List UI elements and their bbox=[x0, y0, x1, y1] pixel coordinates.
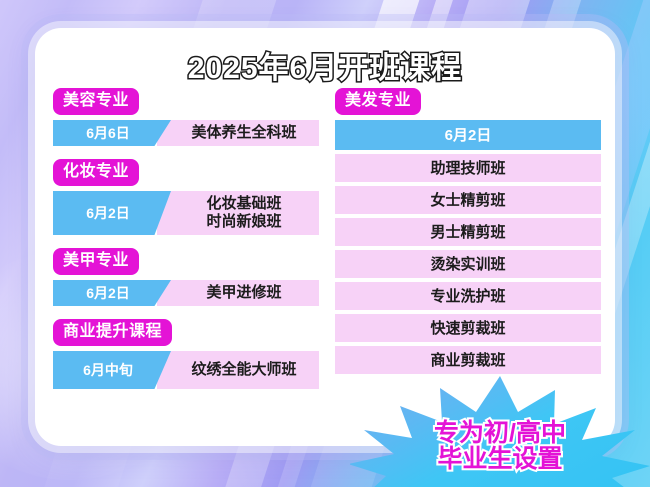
course-name: 美甲进修班 bbox=[206, 284, 281, 302]
course-block: 美容专业 6月6日 美体养生全科班 bbox=[53, 88, 319, 146]
course-name: 美体养生全科班 bbox=[191, 124, 296, 142]
list-item[interactable]: 助理技师班 bbox=[335, 154, 601, 182]
list-item[interactable]: 专业洗护班 bbox=[335, 282, 601, 310]
list-item[interactable]: 男士精剪班 bbox=[335, 218, 601, 246]
category-tag-hair[interactable]: 美发专业 bbox=[335, 88, 421, 115]
course-row[interactable]: 6月2日 化妆基础班 时尚新娘班 bbox=[53, 191, 319, 235]
course-name: 纹绣全能大师班 bbox=[191, 361, 296, 379]
category-tag-makeup[interactable]: 化妆专业 bbox=[53, 159, 139, 186]
right-column: 美发专业 6月2日 助理技师班 女士精剪班 男士精剪班 烫染实训班 专业洗护班 … bbox=[335, 88, 601, 374]
course-block: 商业提升课程 6月中旬 纹绣全能大师班 bbox=[53, 319, 319, 389]
category-tag-nail[interactable]: 美甲专业 bbox=[53, 248, 139, 275]
course-date: 6月中旬 bbox=[53, 351, 171, 389]
poster-canvas: 2025年6月开班课程 美容专业 6月6日 美体养生全科班 化妆专业 bbox=[0, 0, 650, 487]
burst-line-1: 专为初/高中 bbox=[350, 420, 650, 446]
course-names: 化妆基础班 时尚新娘班 bbox=[157, 191, 319, 235]
burst-line-2: 毕业生设置 bbox=[350, 446, 650, 472]
list-item[interactable]: 烫染实训班 bbox=[335, 250, 601, 278]
course-row[interactable]: 6月6日 美体养生全科班 bbox=[53, 120, 319, 146]
course-block: 化妆专业 6月2日 化妆基础班 时尚新娘班 bbox=[53, 159, 319, 235]
course-names: 美甲进修班 bbox=[157, 280, 319, 306]
course-row[interactable]: 6月中旬 纹绣全能大师班 bbox=[53, 351, 319, 389]
course-names: 美体养生全科班 bbox=[157, 120, 319, 146]
course-block: 美甲专业 6月2日 美甲进修班 bbox=[53, 248, 319, 306]
course-date: 6月6日 bbox=[53, 120, 171, 146]
course-row[interactable]: 6月2日 美甲进修班 bbox=[53, 280, 319, 306]
page-title: 2025年6月开班课程 bbox=[35, 43, 615, 87]
burst-text: 专为初/高中 毕业生设置 bbox=[350, 420, 650, 473]
course-date: 6月2日 bbox=[53, 191, 171, 235]
list-item[interactable]: 女士精剪班 bbox=[335, 186, 601, 214]
category-tag-beauty[interactable]: 美容专业 bbox=[53, 88, 139, 115]
hair-column-date-header: 6月2日 bbox=[335, 120, 601, 150]
burst-badge: 专为初/高中 毕业生设置 bbox=[350, 368, 650, 487]
course-name: 化妆基础班 bbox=[206, 195, 281, 213]
list-item[interactable]: 快速剪裁班 bbox=[335, 314, 601, 342]
course-date: 6月2日 bbox=[53, 280, 171, 306]
course-names: 纹绣全能大师班 bbox=[157, 351, 319, 389]
category-tag-business[interactable]: 商业提升课程 bbox=[53, 319, 172, 346]
course-name: 时尚新娘班 bbox=[206, 213, 281, 231]
left-column: 美容专业 6月6日 美体养生全科班 化妆专业 6月2日 化妆基础班 bbox=[53, 88, 319, 402]
